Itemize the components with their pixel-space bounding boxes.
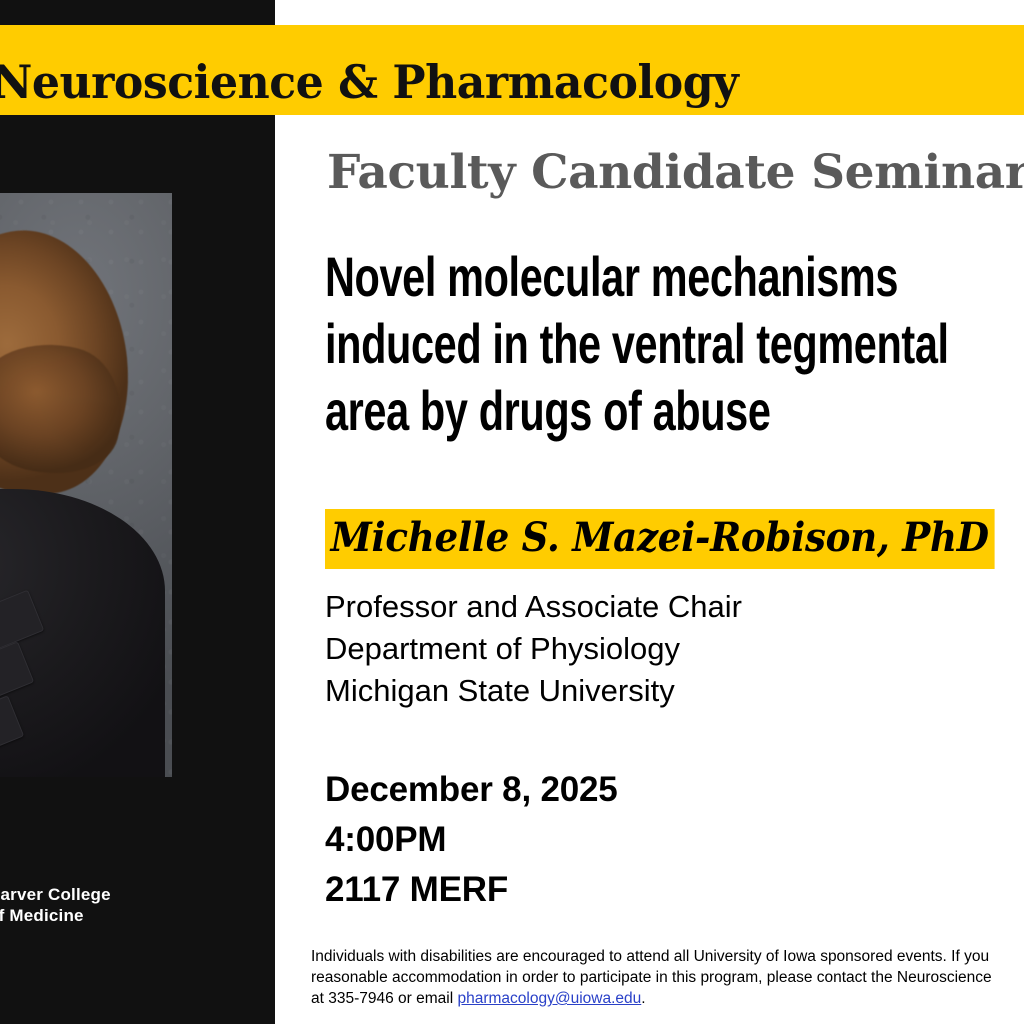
department-banner: Neuroscience & Pharmacology xyxy=(0,25,1024,115)
main-content: Faculty Candidate Seminar Novel molecula… xyxy=(275,0,1024,1024)
affiliation-line-1: Professor and Associate Chair xyxy=(325,586,742,628)
logo-line-1: Carver College xyxy=(0,884,111,905)
speaker-portrait xyxy=(0,193,172,777)
accessibility-line-3: at 335-7946 or email pharmacology@uiowa.… xyxy=(311,988,1024,1009)
seminar-kicker: Faculty Candidate Seminar xyxy=(327,148,1024,198)
affiliation-line-2: Department of Physiology xyxy=(325,628,742,670)
accessibility-line-2: reasonable accommodation in order to par… xyxy=(311,967,1024,988)
speaker-affiliation: Professor and Associate Chair Department… xyxy=(325,586,742,712)
talk-title-line-1: Novel molecular mechanisms xyxy=(325,243,976,310)
event-location: 2117 MERF xyxy=(325,865,618,915)
speaker-name: Michelle S. Mazei-Robison, PhD xyxy=(325,509,994,569)
event-date: December 8, 2025 xyxy=(325,765,618,815)
event-time: 4:00PM xyxy=(325,815,618,865)
talk-title: Novel molecular mechanisms induced in th… xyxy=(325,243,976,444)
department-title: Neuroscience & Pharmacology xyxy=(0,59,738,105)
seminar-poster: Carver College of Medicine Neuroscience … xyxy=(0,0,1024,1024)
accessibility-line-3-suffix: . xyxy=(641,990,645,1007)
event-details: December 8, 2025 4:00PM 2117 MERF xyxy=(325,765,618,915)
accessibility-notice: Individuals with disabilities are encour… xyxy=(311,946,1024,1009)
affiliation-line-3: Michigan State University xyxy=(325,670,742,712)
talk-title-line-2: induced in the ventral tegmental xyxy=(325,310,976,377)
contact-email-link[interactable]: pharmacology@uiowa.edu xyxy=(457,990,641,1007)
talk-title-line-3: area by drugs of abuse xyxy=(325,377,976,444)
accessibility-line-3-prefix: at 335-7946 or email xyxy=(311,990,457,1007)
accessibility-line-1: Individuals with disabilities are encour… xyxy=(311,946,1024,967)
carver-college-logo: Carver College of Medicine xyxy=(0,884,111,926)
logo-line-2: of Medicine xyxy=(0,905,111,926)
